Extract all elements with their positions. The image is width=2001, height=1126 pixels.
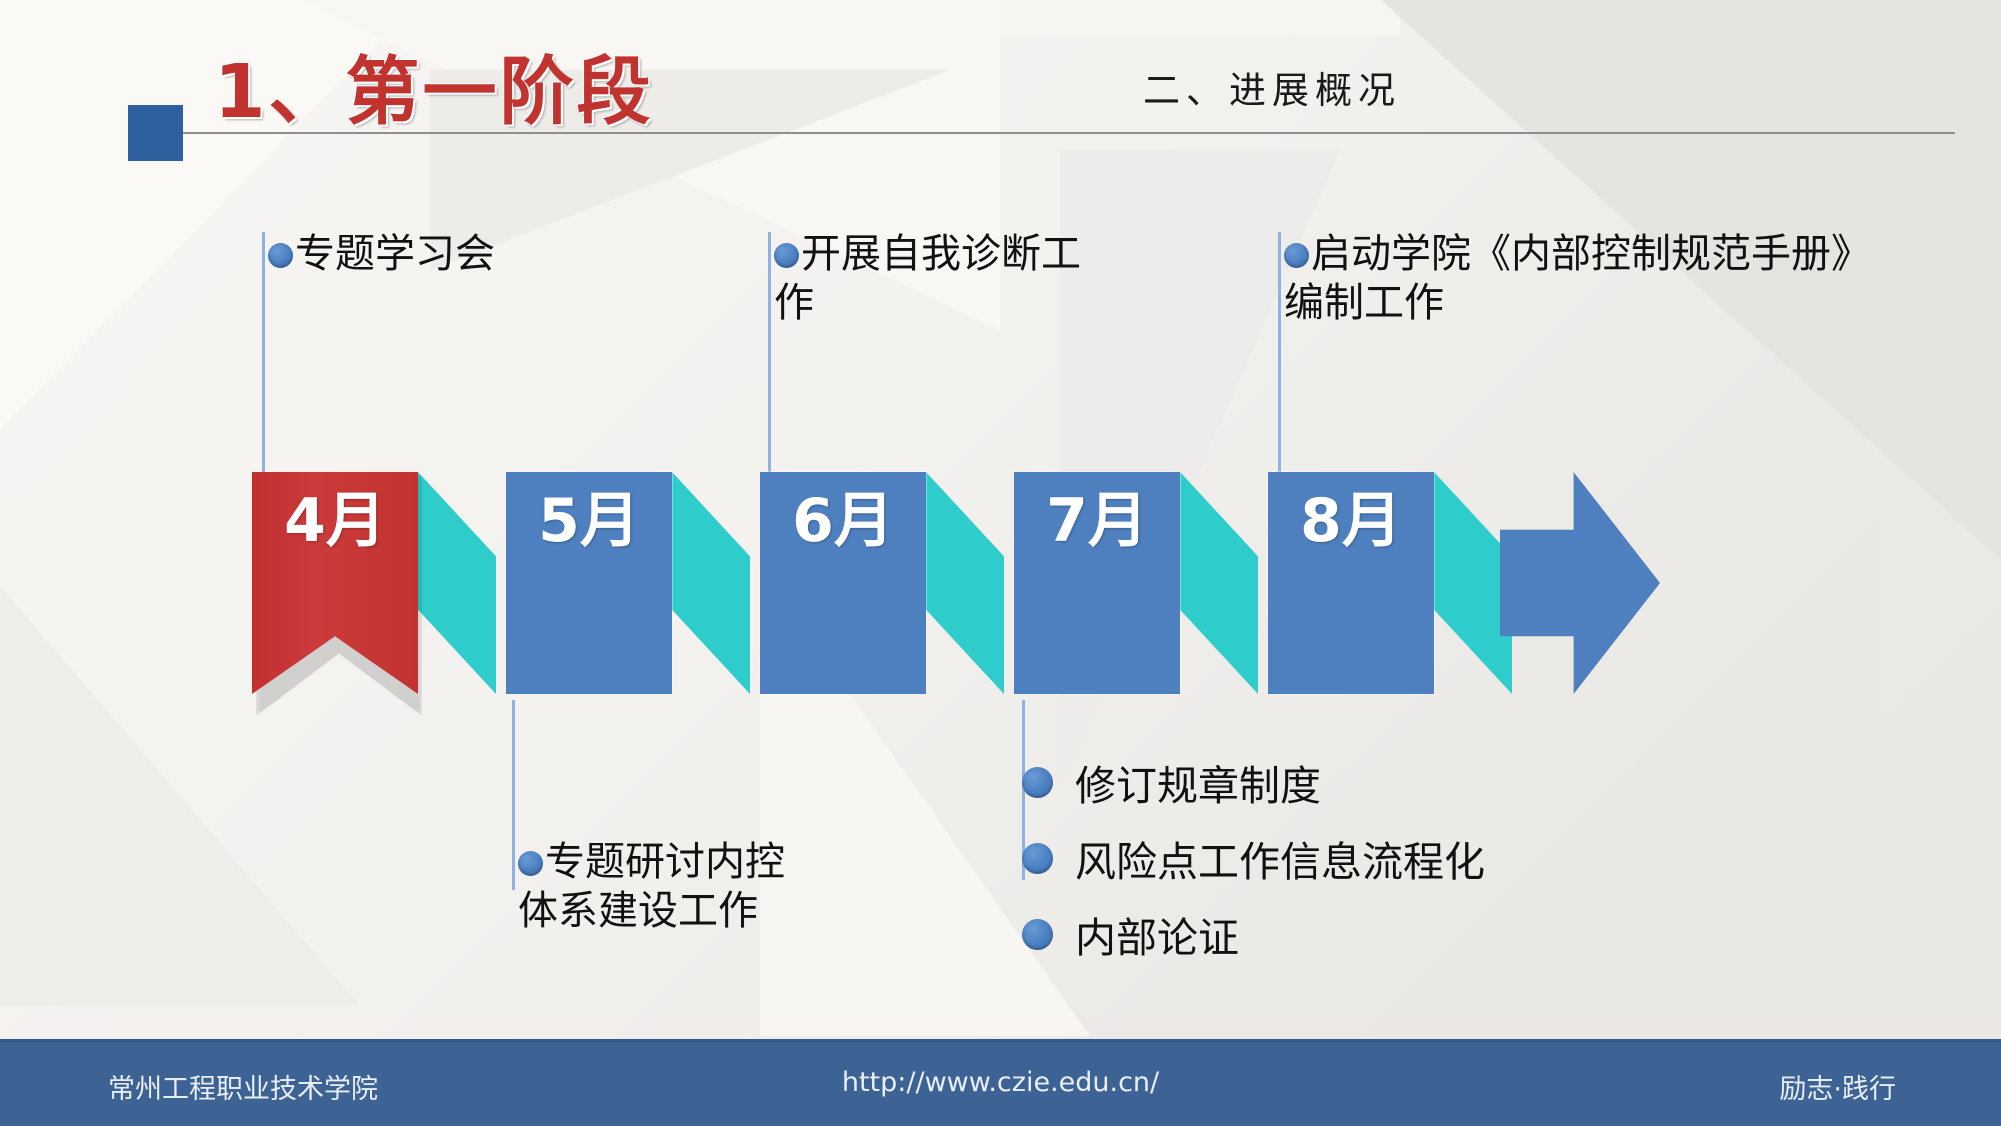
month-label: 8月	[1268, 472, 1434, 559]
bullet-dot-icon	[1022, 767, 1053, 798]
callout-connector-line	[1278, 232, 1281, 472]
callout-june: 开展自我诊断工作	[774, 230, 1114, 328]
footer-divider	[0, 1039, 2001, 1042]
list-item: 修订规章制度	[1022, 752, 1485, 812]
month-label: 7月	[1014, 472, 1180, 559]
callout-may: 专题研讨内控体系建设工作	[518, 838, 798, 936]
footer-motto: 励志·践行	[1779, 1067, 1896, 1106]
month-label: 6月	[760, 472, 926, 559]
slide-footer: 常州工程职业技术学院 http://www.czie.edu.cn/ 励志·践行	[0, 1039, 2001, 1126]
month-label: 4月	[252, 472, 418, 559]
list-item-label: 修订规章制度	[1075, 752, 1321, 812]
callout-text: 启动学院《内部控制规范手册》编制工作	[1284, 231, 1851, 326]
footer-institution: 常州工程职业技术学院	[108, 1067, 378, 1106]
july-task-list: 修订规章制度 风险点工作信息流程化 内部论证	[1022, 752, 1485, 980]
callout-text: 开展自我诊断工作	[774, 231, 1081, 326]
bullet-dot-icon	[1022, 919, 1053, 950]
footer-url[interactable]: http://www.czie.edu.cn/	[842, 1067, 1159, 1098]
callout-connector-line	[768, 232, 771, 472]
bullet-dot-icon	[1284, 243, 1309, 268]
callout-connector-line	[262, 232, 265, 472]
title-accent-square	[128, 105, 183, 161]
callout-april: 专题学习会	[268, 230, 738, 279]
callout-connector-line	[512, 700, 515, 890]
section-breadcrumb: 二、进展概况	[1143, 60, 1401, 114]
bullet-dot-icon	[518, 851, 543, 876]
page-title: 1、第一阶段	[214, 32, 654, 139]
list-item: 风险点工作信息流程化	[1022, 828, 1485, 888]
slide-canvas: 1、第一阶段 二、进展概况 专题学习会 开展自我诊断工作 启动学院《内部控制规范…	[0, 0, 2001, 1126]
callout-text: 专题研讨内控体系建设工作	[518, 839, 785, 934]
bullet-dot-icon	[1022, 843, 1053, 874]
list-item-label: 内部论证	[1075, 904, 1239, 964]
month-label: 5月	[506, 472, 672, 559]
list-item: 内部论证	[1022, 904, 1485, 964]
callout-text: 专题学习会	[295, 231, 495, 277]
bullet-dot-icon	[268, 243, 293, 268]
bullet-dot-icon	[774, 243, 799, 268]
callout-august: 启动学院《内部控制规范手册》编制工作	[1284, 230, 1864, 328]
list-item-label: 风险点工作信息流程化	[1075, 828, 1485, 888]
